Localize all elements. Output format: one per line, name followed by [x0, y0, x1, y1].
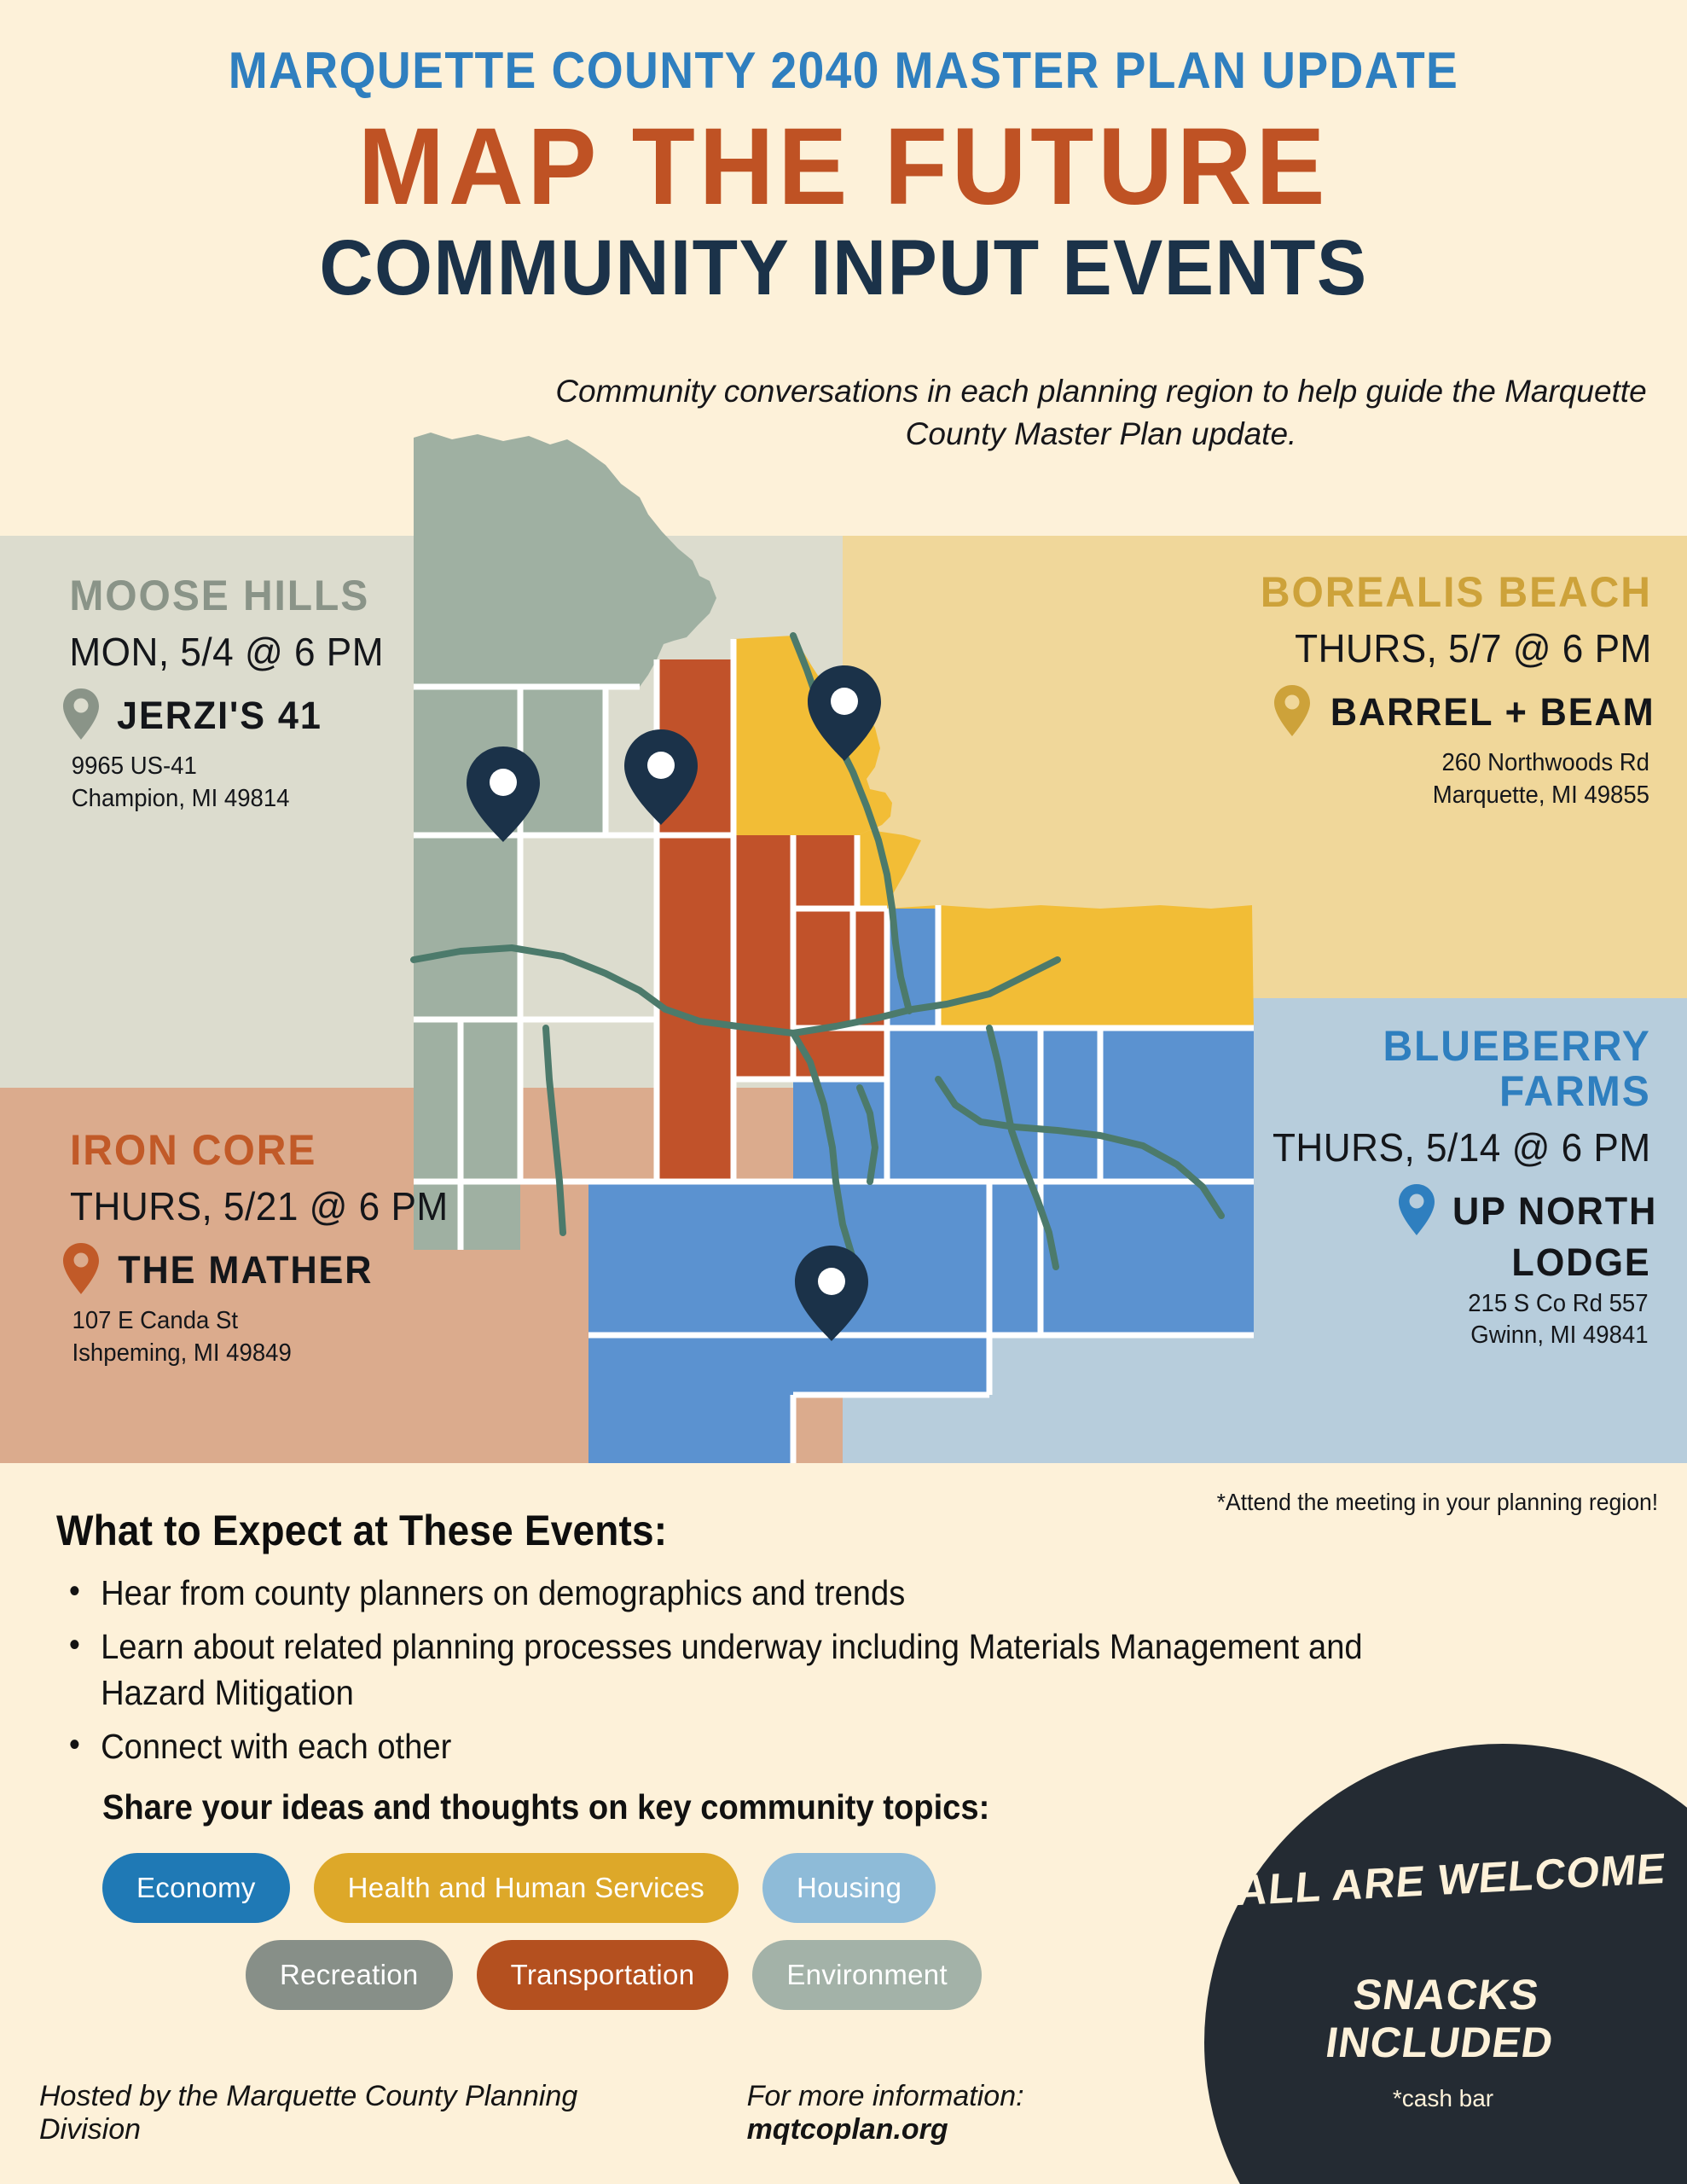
region-name-blueberry-farms-line1: BLUEBERRY	[1145, 1024, 1650, 1069]
topic-pill-economy[interactable]: Economy	[102, 1853, 290, 1923]
region-address2-borealis-beach: Marquette, MI 49855	[1196, 780, 1649, 812]
region-date-iron-core: THURS, 5/21 @ 6 PM	[70, 1183, 479, 1229]
list-item: Hear from county planners on demographic…	[56, 1571, 1476, 1616]
region-address2-iron-core: Ishpeming, MI 49849	[72, 1338, 478, 1370]
list-item: Learn about related planning processes u…	[56, 1624, 1476, 1716]
region-date-blueberry-farms: THURS, 5/14 @ 6 PM	[1145, 1124, 1650, 1170]
location-pin-icon	[61, 1241, 101, 1300]
topics-row-2: Recreation Transportation Environment	[246, 1940, 1211, 2010]
footer-url[interactable]: mqtcoplan.org	[747, 2113, 948, 2146]
header-block: MARQUETTE COUNTY 2040 MASTER PLAN UPDATE…	[0, 0, 1687, 308]
kicker-text: MARQUETTE COUNTY 2040 MASTER PLAN UPDATE	[67, 41, 1620, 100]
region-date-borealis-beach: THURS, 5/7 @ 6 PM	[1193, 625, 1652, 671]
region-address1-iron-core: 107 E Canda St	[72, 1305, 478, 1338]
topic-pill-housing[interactable]: Housing	[762, 1853, 936, 1923]
what-to-expect-heading: What to Expect at These Events:	[56, 1506, 1461, 1555]
all-are-welcome-badge: ALL ARE WELCOME SNACKS INCLUDED *cash ba…	[1204, 1744, 1687, 2184]
region-card-moose-hills: MOOSE HILLS MON, 5/4 @ 6 PM JERZI'S 41 9…	[61, 573, 462, 815]
badge-line-included: INCLUDED	[1078, 2018, 1687, 2066]
region-name-iron-core: IRON CORE	[70, 1128, 479, 1173]
poster-root: MARQUETTE COUNTY 2040 MASTER PLAN UPDATE…	[0, 0, 1687, 2184]
list-item: Connect with each other	[56, 1724, 1476, 1769]
region-date-moose-hills: MON, 5/4 @ 6 PM	[69, 629, 454, 675]
topic-pill-environment[interactable]: Environment	[752, 1940, 982, 2010]
region-name-borealis-beach: BOREALIS BEACH	[1193, 570, 1652, 615]
footer-hosted-by: Hosted by the Marquette County Planning …	[39, 2080, 687, 2146]
region-address1-blueberry-farms: 215 S Co Rd 557	[1147, 1288, 1648, 1321]
region-address1-moose-hills: 9965 US-41	[72, 751, 453, 783]
region-venue-blueberry-farms-line2: LODGE	[1145, 1243, 1650, 1283]
region-card-iron-core: IRON CORE THURS, 5/21 @ 6 PM THE MATHER …	[61, 1128, 488, 1369]
region-address2-moose-hills: Champion, MI 49814	[72, 783, 453, 816]
location-pin-icon	[1397, 1182, 1436, 1241]
topic-pill-transportation[interactable]: Transportation	[477, 1940, 729, 2010]
what-to-expect-list: Hear from county planners on demographic…	[56, 1571, 1583, 1769]
topic-pill-recreation[interactable]: Recreation	[246, 1940, 453, 2010]
footer-more-info-label: For more information:	[747, 2080, 1024, 2112]
region-venue-blueberry-farms-line1: UP NORTH	[1452, 1192, 1657, 1232]
region-address2-blueberry-farms: Gwinn, MI 49841	[1147, 1320, 1648, 1352]
region-name-moose-hills: MOOSE HILLS	[69, 573, 454, 619]
what-to-expect-section: What to Expect at These Events: Hear fro…	[56, 1506, 1583, 1778]
region-name-blueberry-farms-line2: FARMS	[1145, 1069, 1650, 1114]
topics-heading: Share your ideas and thoughts on key com…	[102, 1787, 1133, 1827]
topic-pill-health-and-human-services[interactable]: Health and Human Services	[314, 1853, 739, 1923]
page-subtitle: COMMUNITY INPUT EVENTS	[42, 229, 1644, 309]
page-title: MAP THE FUTURE	[42, 112, 1644, 224]
location-pin-icon	[1272, 683, 1312, 742]
topics-section: Share your ideas and thoughts on key com…	[102, 1787, 1211, 2010]
region-card-blueberry-farms: BLUEBERRY FARMS THURS, 5/14 @ 6 PM UP NO…	[1134, 1024, 1661, 1352]
region-venue-iron-core: THE MATHER	[118, 1251, 373, 1291]
region-venue-moose-hills: JERZI'S 41	[117, 696, 322, 736]
topics-row-1: Economy Health and Human Services Housin…	[102, 1853, 1211, 1923]
region-address1-borealis-beach: 260 Northwoods Rd	[1196, 747, 1649, 780]
location-pin-icon	[61, 687, 101, 746]
badge-line-snacks: SNACKS	[1085, 1971, 1687, 2018]
region-card-borealis-beach: BOREALIS BEACH THURS, 5/7 @ 6 PM BARREL …	[1184, 570, 1661, 811]
map-region-borealis-beach-shore	[887, 905, 1254, 1028]
region-venue-borealis-beach: BARREL + BEAM	[1330, 693, 1655, 733]
footer: Hosted by the Marquette County Planning …	[39, 2080, 1233, 2146]
